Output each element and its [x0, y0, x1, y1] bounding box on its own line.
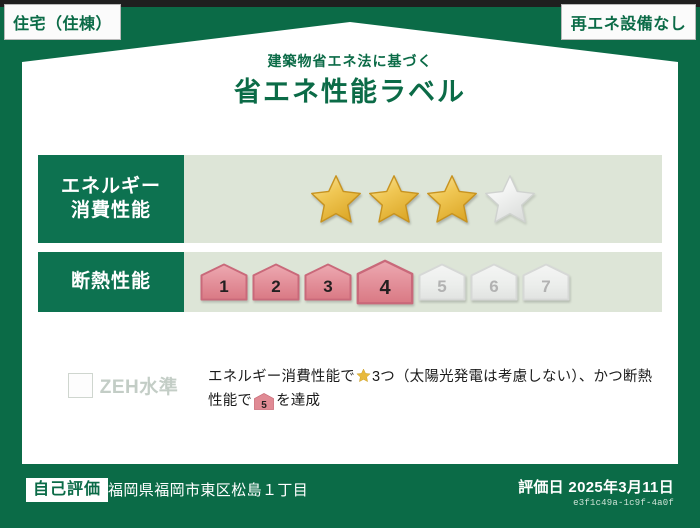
star-filled-icon	[368, 173, 420, 225]
tag-renewable-equipment-text: 再エネ設備なし	[571, 10, 687, 34]
zeh-checkbox-icon	[68, 373, 93, 398]
assessment-type-badge: 自己評価	[26, 478, 108, 502]
insulation-grade-value: 6	[489, 278, 498, 301]
row-insulation-label: 断熱性能	[38, 252, 184, 312]
insulation-grade-value: 7	[541, 278, 550, 301]
star-filled-icon	[426, 173, 478, 225]
label-subtitle: 建築物省エネ法に基づく	[0, 52, 700, 72]
inline-grade-house-icon: 5	[254, 393, 274, 410]
insulation-grade-value: 2	[271, 278, 280, 301]
row-insulation-label-line1: 断熱性能	[71, 270, 151, 294]
row-energy-label-line2: 消費性能	[71, 199, 151, 223]
label-footer: 自己評価 福岡県福岡市東区松島１丁目 評価日 2025年3月11日 e3f1c4…	[0, 476, 700, 518]
zeh-standard-label: ZEH水準	[100, 372, 179, 399]
row-insulation-performance: 断熱性能 1234567	[38, 252, 662, 312]
insulation-grade-value: 3	[323, 278, 332, 301]
insulation-grade-4: 4	[356, 259, 414, 305]
property-address: 福岡県福岡市東区松島１丁目	[108, 480, 308, 501]
star-filled-icon	[310, 173, 362, 225]
note-text-part3: を達成	[276, 393, 320, 409]
label-title: 省エネ性能ラベル	[0, 74, 700, 110]
tag-building-type: 住宅（住棟）	[4, 4, 121, 40]
achievement-note: ZEH水準 エネルギー消費性能で3つ（太陽光発電は考慮しない）、かつ断熱性能で5…	[38, 366, 662, 414]
row-energy-label: エネルギー 消費性能	[38, 155, 184, 243]
insulation-grade-2: 2	[252, 263, 300, 301]
tag-building-type-text: 住宅（住棟）	[13, 10, 112, 34]
insulation-grade-scale: 1234567	[184, 252, 662, 312]
insulation-grade-value: 5	[437, 278, 446, 301]
zeh-standard-mark: ZEH水準	[38, 366, 208, 399]
energy-performance-label: 住宅（住棟） 再エネ設備なし 建築物省エネ法に基づく 省エネ性能ラベル エネルギ…	[0, 0, 700, 528]
label-identifier: e3f1c49a-1c9f-4a0f	[573, 498, 674, 508]
performance-rows: エネルギー 消費性能 断熱性能 1234567	[38, 155, 662, 321]
row-energy-label-line1: エネルギー	[61, 175, 161, 199]
evaluation-date: 評価日 2025年3月11日	[518, 476, 674, 497]
star-rating	[184, 155, 662, 243]
insulation-grade-6: 6	[470, 263, 518, 301]
insulation-grade-value: 1	[219, 278, 228, 301]
insulation-grade-5: 5	[418, 263, 466, 301]
insulation-grade-value: 4	[379, 278, 390, 305]
inline-star-icon	[356, 368, 371, 383]
insulation-grade-3: 3	[304, 263, 352, 301]
star-empty-icon	[484, 173, 536, 225]
achievement-note-text: エネルギー消費性能で3つ（太陽光発電は考慮しない）、かつ断熱性能で5を達成	[208, 366, 662, 414]
label-heading: 建築物省エネ法に基づく 省エネ性能ラベル	[0, 52, 700, 110]
insulation-grade-1: 1	[200, 263, 248, 301]
note-text-part1: エネルギー消費性能で	[208, 369, 355, 385]
tag-renewable-equipment: 再エネ設備なし	[561, 4, 696, 40]
row-energy-performance: エネルギー 消費性能	[38, 155, 662, 243]
insulation-grade-7: 7	[522, 263, 570, 301]
inline-grade-value: 5	[261, 400, 267, 411]
